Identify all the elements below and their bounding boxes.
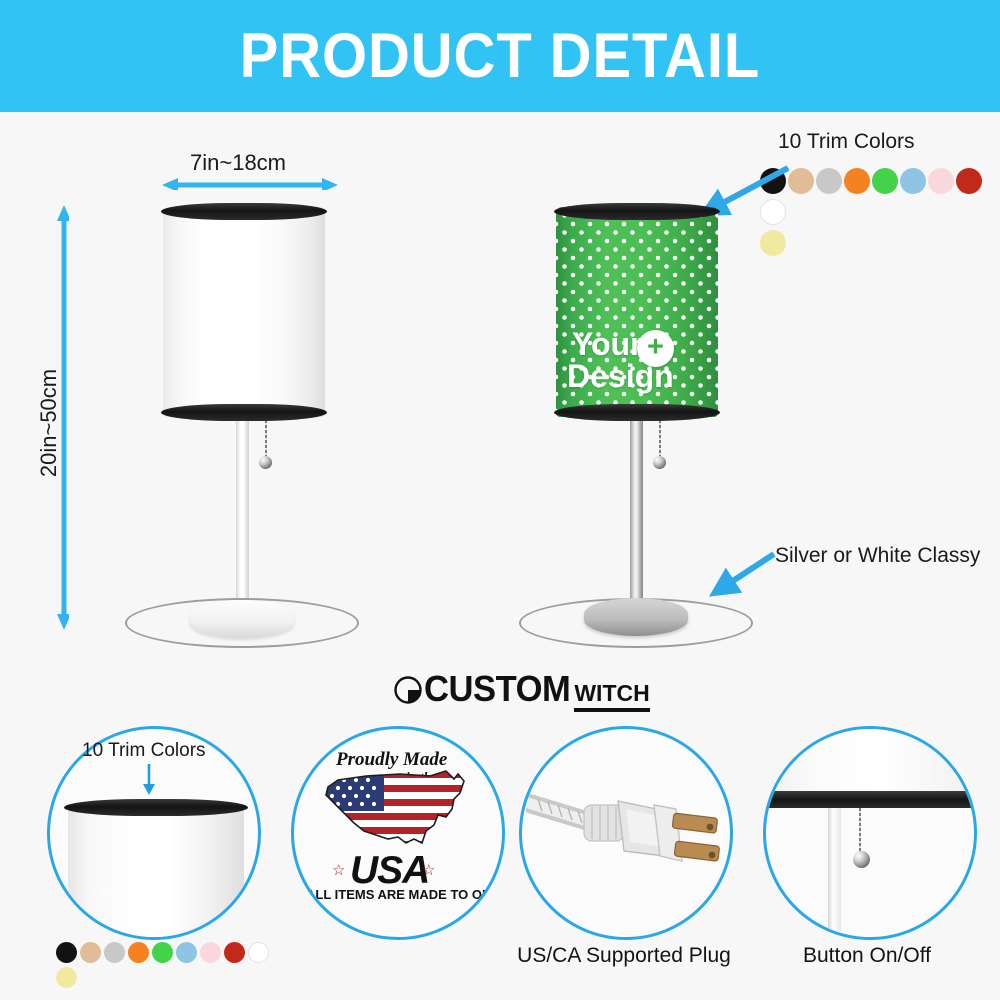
white-lamp-chain-ball[interactable]: [259, 456, 272, 469]
swatch-bottom-green[interactable]: [152, 942, 173, 963]
product-detail-infographic: PRODUCT DETAIL 10 Trim Colors 7in~18cm 2…: [0, 0, 1000, 1000]
power-plug-icon: [526, 761, 726, 911]
onoff-pole: [828, 808, 841, 938]
feature-shade-body: [68, 807, 244, 940]
green-lamp-bottom-trim: [554, 404, 720, 421]
usa-star-left: ☆: [332, 861, 345, 879]
page-title: PRODUCT DETAIL: [240, 25, 761, 88]
swatch-orange[interactable]: [844, 168, 870, 194]
white-lamp-pole: [236, 418, 249, 600]
white-lamp-base: [190, 600, 294, 638]
brand-logo: CUSTOM WITCH: [393, 668, 650, 712]
green-lamp-top-trim: [554, 203, 720, 220]
green-lamp-base: [584, 598, 688, 636]
swatch-bottom-black[interactable]: [56, 942, 77, 963]
base-finish-label: Silver or White Classy: [775, 544, 980, 568]
feature-shade-trim: [64, 799, 248, 816]
feature-button-label: Button On/Off: [742, 944, 992, 968]
feature-trim-colors-heading: 10 Trim Colors: [82, 740, 206, 762]
white-lamp-bottom-trim: [161, 404, 327, 421]
swatch-light-blue[interactable]: [900, 168, 926, 194]
swatch-bottom-tan[interactable]: [80, 942, 101, 963]
swatch-bottom-gray[interactable]: [104, 942, 125, 963]
swatch-bottom-pale-yellow[interactable]: [56, 967, 77, 988]
usa-badge-subtext: ALL ITEMS ARE MADE TO ORDER!: [306, 887, 505, 902]
logo-c-icon: [393, 673, 423, 707]
green-lamp-pull-chain[interactable]: [659, 420, 661, 461]
white-lamp-top-trim: [161, 203, 327, 220]
swatch-bottom-orange[interactable]: [128, 942, 149, 963]
width-dimension-arrow-icon: [162, 176, 338, 190]
feature-made-in-usa: Proudly Made in the: [291, 726, 505, 940]
green-lamp-chain-ball[interactable]: [653, 456, 666, 469]
trim-colors-heading-top: 10 Trim Colors: [778, 130, 915, 154]
swatch-bottom-pink[interactable]: [200, 942, 221, 963]
white-shade-surface: [163, 207, 325, 417]
onoff-trim-bar: [763, 791, 977, 808]
swatch-green[interactable]: [872, 168, 898, 194]
swatch-gray[interactable]: [816, 168, 842, 194]
logo-witch-text: WITCH: [574, 680, 649, 712]
onoff-pull-chain[interactable]: [859, 808, 861, 856]
feature-plug-label: US/CA Supported Plug: [499, 944, 749, 968]
header-banner: PRODUCT DETAIL: [0, 0, 1000, 112]
plus-glyph: +: [647, 333, 664, 362]
feature-button-on-off: [763, 726, 977, 940]
logo-custom-text: CUSTOM: [424, 668, 570, 710]
width-dimension-label: 7in~18cm: [190, 150, 286, 176]
add-design-plus-icon[interactable]: +: [637, 330, 674, 367]
base-finish-arrow-icon: [700, 548, 780, 604]
swatch-pale-yellow[interactable]: [760, 230, 786, 256]
swatch-dark-red[interactable]: [956, 168, 982, 194]
feature-plug: [519, 726, 733, 940]
usa-star-right: ☆: [422, 861, 435, 879]
trim-colors-swatches-bottom: [56, 942, 276, 988]
swatch-bottom-light-blue[interactable]: [176, 942, 197, 963]
feature-trim-down-arrow-icon: [141, 764, 157, 796]
swatch-bottom-white[interactable]: [248, 942, 269, 963]
height-dimension-arrow-icon: [55, 205, 69, 630]
white-lamp-pull-chain[interactable]: [265, 420, 267, 461]
swatch-bottom-dark-red[interactable]: [224, 942, 245, 963]
white-lamp-shade: [163, 207, 325, 417]
your-design-line1: Your: [572, 328, 643, 361]
onoff-chain-ball[interactable]: [853, 851, 870, 868]
swatch-pink[interactable]: [928, 168, 954, 194]
usa-map-flag-icon: [318, 765, 482, 855]
trim-colors-swatches-top: [760, 168, 1000, 256]
green-lamp-pole: [630, 418, 643, 600]
onoff-shade-body: [763, 729, 977, 795]
